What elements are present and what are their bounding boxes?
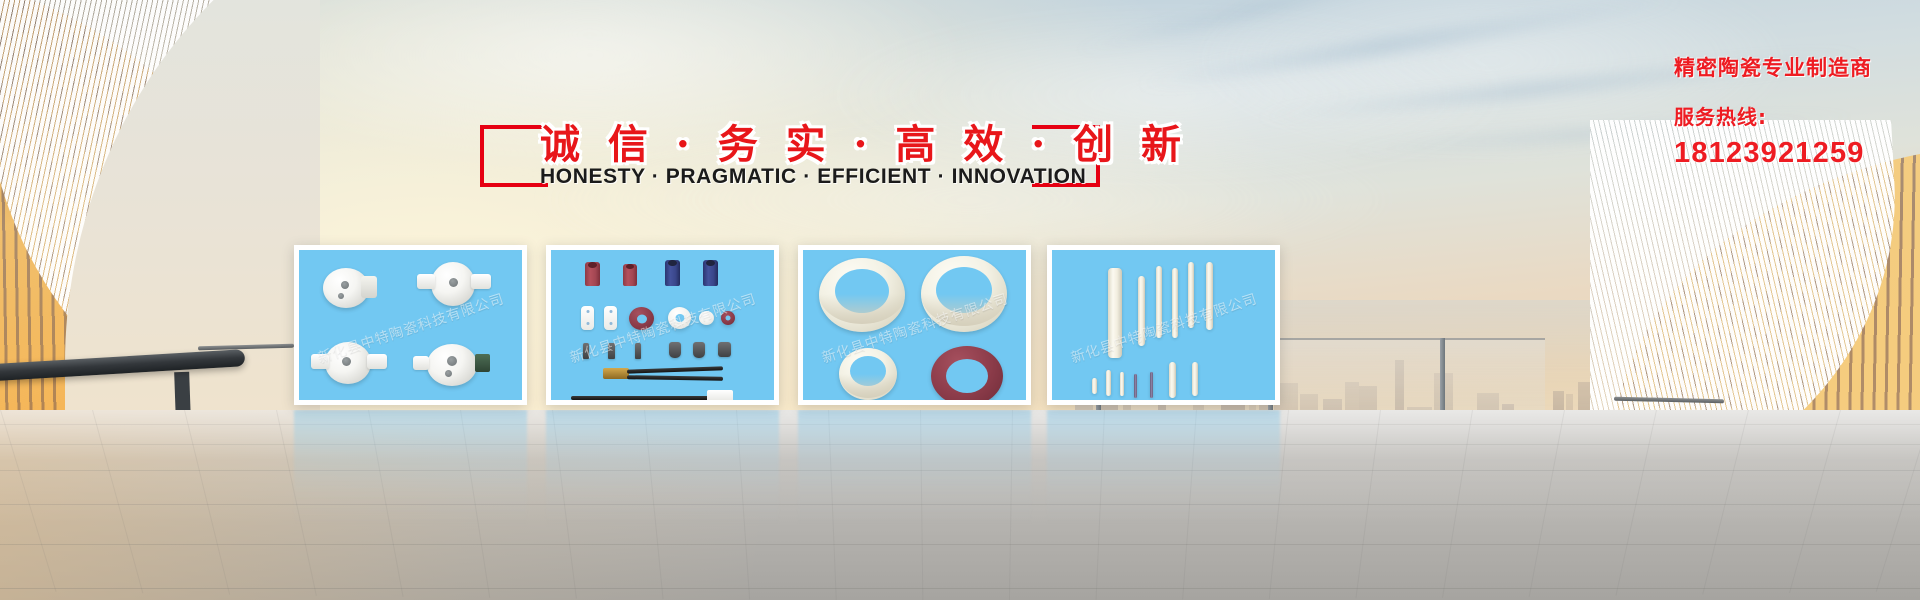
ceramic-rod-short — [1192, 362, 1198, 396]
ceramic-rod-short — [1120, 372, 1124, 396]
ceramic-lamp-holder — [427, 344, 477, 386]
ceramic-washer-white — [699, 311, 714, 325]
floor-tile-line — [0, 544, 1920, 545]
terrace-floor — [0, 410, 1920, 600]
wire-connector — [603, 368, 629, 379]
panel-image: 新化县中特陶瓷科技有限公司 — [299, 250, 522, 400]
ceramic-ring-maroon — [629, 307, 654, 330]
ceramic-lamp-holder — [431, 262, 475, 306]
ceramic-ring-maroon-flat — [931, 346, 1003, 400]
ceramic-tube-maroon — [623, 264, 637, 286]
hotline-number[interactable]: 18123921259 — [1674, 137, 1872, 170]
ceramic-ring-white — [668, 307, 691, 329]
ceramic-rod — [1108, 268, 1122, 358]
ceramic-tube-maroon — [585, 262, 600, 286]
holder-neck — [361, 276, 377, 298]
black-wire — [627, 375, 723, 381]
holder-wing — [471, 274, 491, 289]
holder-wing — [413, 356, 429, 370]
floor-tile-line — [0, 588, 1920, 589]
metal-clip — [583, 343, 589, 359]
ceramic-rod-short — [1092, 378, 1097, 394]
slogan-block: 诚 信 · 务 实 · 高 效 · 创 新 HONESTY · PRAGMATI… — [480, 108, 1100, 204]
panel-reflection — [546, 410, 779, 528]
contact-block: 精密陶瓷专业制造商 服务热线: 18123921259 — [1674, 52, 1872, 170]
company-tagline: 精密陶瓷专业制造商 — [1674, 52, 1872, 82]
ceramic-plate — [581, 306, 594, 330]
ceramic-washer-maroon — [721, 311, 735, 325]
black-wire — [571, 396, 711, 400]
ceramic-rod-short — [1106, 370, 1111, 396]
metal-clip — [669, 342, 681, 358]
product-panel-ceramic-rods[interactable]: 新化县中特陶瓷科技有限公司 — [1047, 245, 1280, 405]
ring-wall — [839, 374, 897, 398]
panel-reflection — [798, 410, 1031, 528]
panel-reflection — [294, 410, 527, 528]
ceramic-rod — [1172, 268, 1178, 338]
ceramic-tube-navy — [703, 260, 718, 286]
slogan-chinese: 诚 信 · 务 实 · 高 效 · 创 新 — [540, 112, 1040, 170]
bracket-left — [480, 125, 548, 187]
product-panel-ceramic-lamp-holders[interactable]: 新化县中特陶瓷科技有限公司 — [294, 245, 527, 405]
ceramic-rod — [1138, 276, 1145, 346]
watermark: 新化县中特陶瓷科技有限公司 — [1068, 288, 1260, 367]
ceramic-lamp-holder — [325, 342, 371, 384]
ceramic-plate — [604, 306, 617, 330]
ceramic-rod-violet — [1134, 374, 1137, 398]
ceramic-rod — [1156, 266, 1162, 338]
ceramic-rod — [1206, 262, 1213, 330]
ceramic-tube-navy — [665, 260, 680, 286]
hotline-label: 服务热线: — [1674, 101, 1872, 130]
ceramic-rod-violet — [1150, 372, 1153, 398]
product-panel-ceramic-tubes[interactable]: 新化县中特陶瓷科技有限公司 — [546, 245, 779, 405]
metal-clip — [608, 343, 615, 359]
panel-image: 新化县中特陶瓷科技有限公司 — [1052, 250, 1275, 400]
holder-wing — [311, 354, 329, 369]
wire-terminal — [707, 390, 733, 400]
ceramic-rod — [1188, 262, 1194, 328]
holder-contact — [475, 354, 490, 372]
holder-wing — [367, 354, 387, 369]
product-panel-ceramic-rings[interactable]: 新化县中特陶瓷科技有限公司 — [798, 245, 1031, 405]
metal-clip — [718, 342, 731, 357]
hero-banner: 诚 信 · 务 实 · 高 效 · 创 新 HONESTY · PRAGMATI… — [0, 0, 1920, 600]
holder-wing — [417, 274, 435, 289]
panel-image: 新化县中特陶瓷科技有限公司 — [551, 250, 774, 400]
black-wire — [627, 366, 723, 373]
metal-clip — [693, 342, 705, 358]
panel-image: 新化县中特陶瓷科技有限公司 — [803, 250, 1026, 400]
panel-reflection — [1047, 410, 1280, 528]
ceramic-rod-short — [1169, 362, 1176, 398]
metal-clip — [635, 343, 641, 359]
wooden-canopy-left — [0, 0, 320, 465]
slogan-english: HONESTY · PRAGMATIC · EFFICIENT · INNOVA… — [540, 165, 1040, 189]
